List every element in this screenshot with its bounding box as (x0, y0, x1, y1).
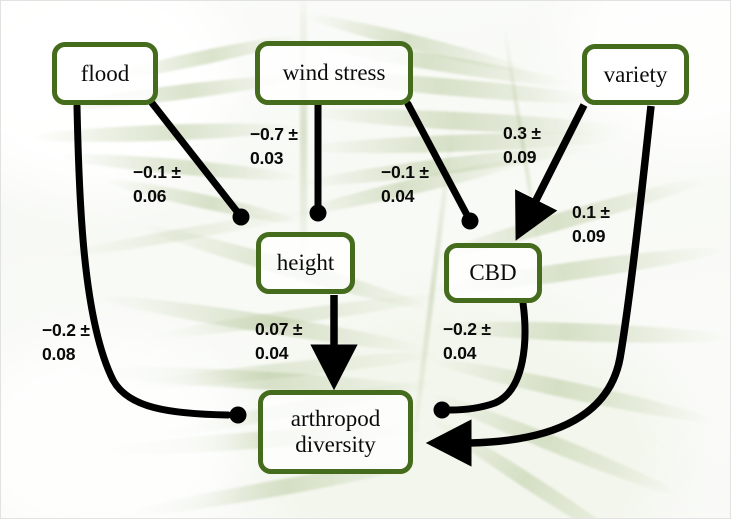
node-wind-stress-label: wind stress (283, 60, 386, 86)
node-variety[interactable]: variety (582, 44, 689, 105)
edge-label-variety-arthropod: 0.1 ± 0.09 (572, 200, 610, 248)
path-diagram-figure: flood wind stress variety height CBD art… (0, 0, 731, 519)
edge-wind-height (310, 104, 327, 222)
node-height-label: height (277, 250, 335, 276)
node-arthropod-diversity[interactable]: arthropod diversity (258, 390, 413, 474)
edge-label-wind-height: −0.7 ± 0.03 (250, 122, 298, 170)
edge-label-variety-cbd: 0.3 ± 0.09 (503, 121, 541, 169)
edge-label-height-arthropod: 0.07 ± 0.04 (255, 317, 302, 365)
node-arthropod-diversity-label: arthropod diversity (291, 406, 380, 458)
node-flood[interactable]: flood (52, 42, 158, 105)
edge-label-cbd-arthropod: −0.2 ± 0.04 (443, 317, 491, 365)
node-cbd[interactable]: CBD (444, 243, 542, 303)
node-height[interactable]: height (256, 232, 355, 294)
edge-label-wind-cbd: −0.1 ± 0.04 (381, 160, 429, 208)
edge-flood-arthropod (77, 106, 247, 424)
edge-label-flood-height: −0.1 ± 0.06 (133, 160, 181, 208)
node-wind-stress[interactable]: wind stress (255, 41, 413, 105)
node-variety-label: variety (604, 62, 668, 88)
edge-label-flood-arthropod: −0.2 ± 0.08 (42, 318, 90, 366)
node-flood-label: flood (81, 61, 130, 87)
node-cbd-label: CBD (469, 260, 516, 286)
